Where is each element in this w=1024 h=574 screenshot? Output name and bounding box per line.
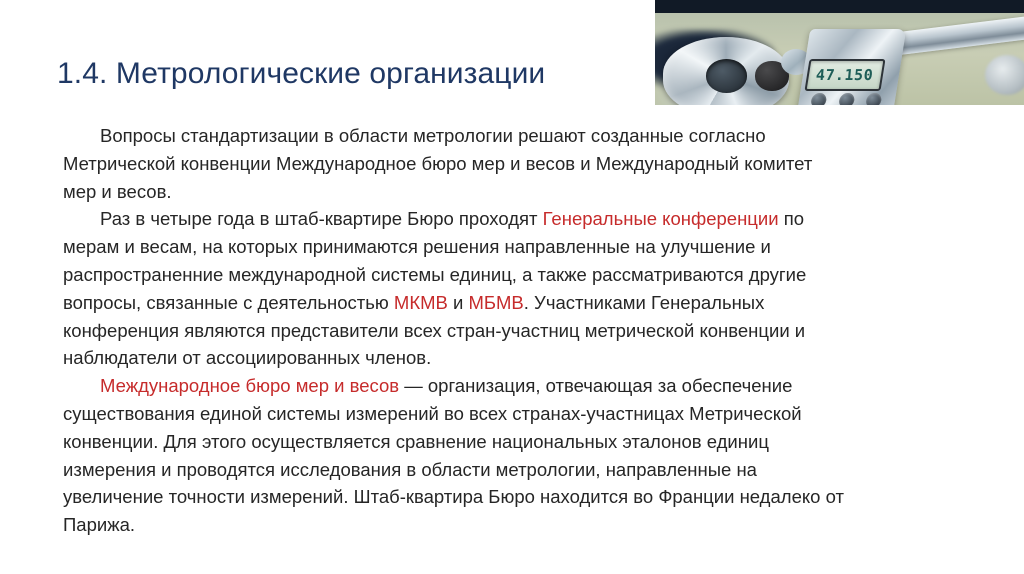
micrometer-rod: [890, 15, 1024, 56]
paragraph-3-part-1: — организация, отвечающая за обеспечение…: [63, 375, 844, 535]
paragraph-1: Вопросы стандартизации в области метроло…: [63, 122, 845, 205]
micrometer-button-1: [810, 93, 827, 105]
paragraph-2: Раз в четыре года в штаб-квартире Бюро п…: [63, 205, 845, 372]
highlight-mbmv: МБМВ: [468, 292, 523, 313]
photo-top-band: [655, 0, 1024, 13]
lcd-reading-value: 47.150: [816, 66, 875, 84]
micrometer-rod-end: [985, 55, 1024, 95]
highlight-mkmv: МКМВ: [394, 292, 448, 313]
micrometer-button-3: [865, 93, 882, 105]
micrometer-photo: 47.150: [655, 0, 1024, 105]
micrometer-lcd-display: 47.150: [804, 59, 885, 91]
photo-scene: 47.150: [655, 13, 1024, 105]
highlight-international-bureau: Международное бюро мер и весов: [100, 375, 399, 396]
slide-body-text: Вопросы стандартизации в области метроло…: [63, 122, 845, 539]
presentation-slide: 1.4. Метрологические организации 47.150 …: [0, 0, 1024, 574]
micrometer-buttons: [810, 93, 883, 105]
micrometer-button-2: [838, 93, 855, 105]
paragraph-1-text: Вопросы стандартизации в области метроло…: [63, 125, 812, 202]
paragraph-3: Международное бюро мер и весов — организ…: [63, 372, 845, 539]
paragraph-2-part-3: и: [448, 292, 469, 313]
highlight-general-conferences: Генеральные конференции: [543, 208, 779, 229]
page-title: 1.4. Метрологические организации: [57, 54, 657, 94]
paragraph-2-part-1: Раз в четыре года в штаб-квартире Бюро п…: [100, 208, 543, 229]
